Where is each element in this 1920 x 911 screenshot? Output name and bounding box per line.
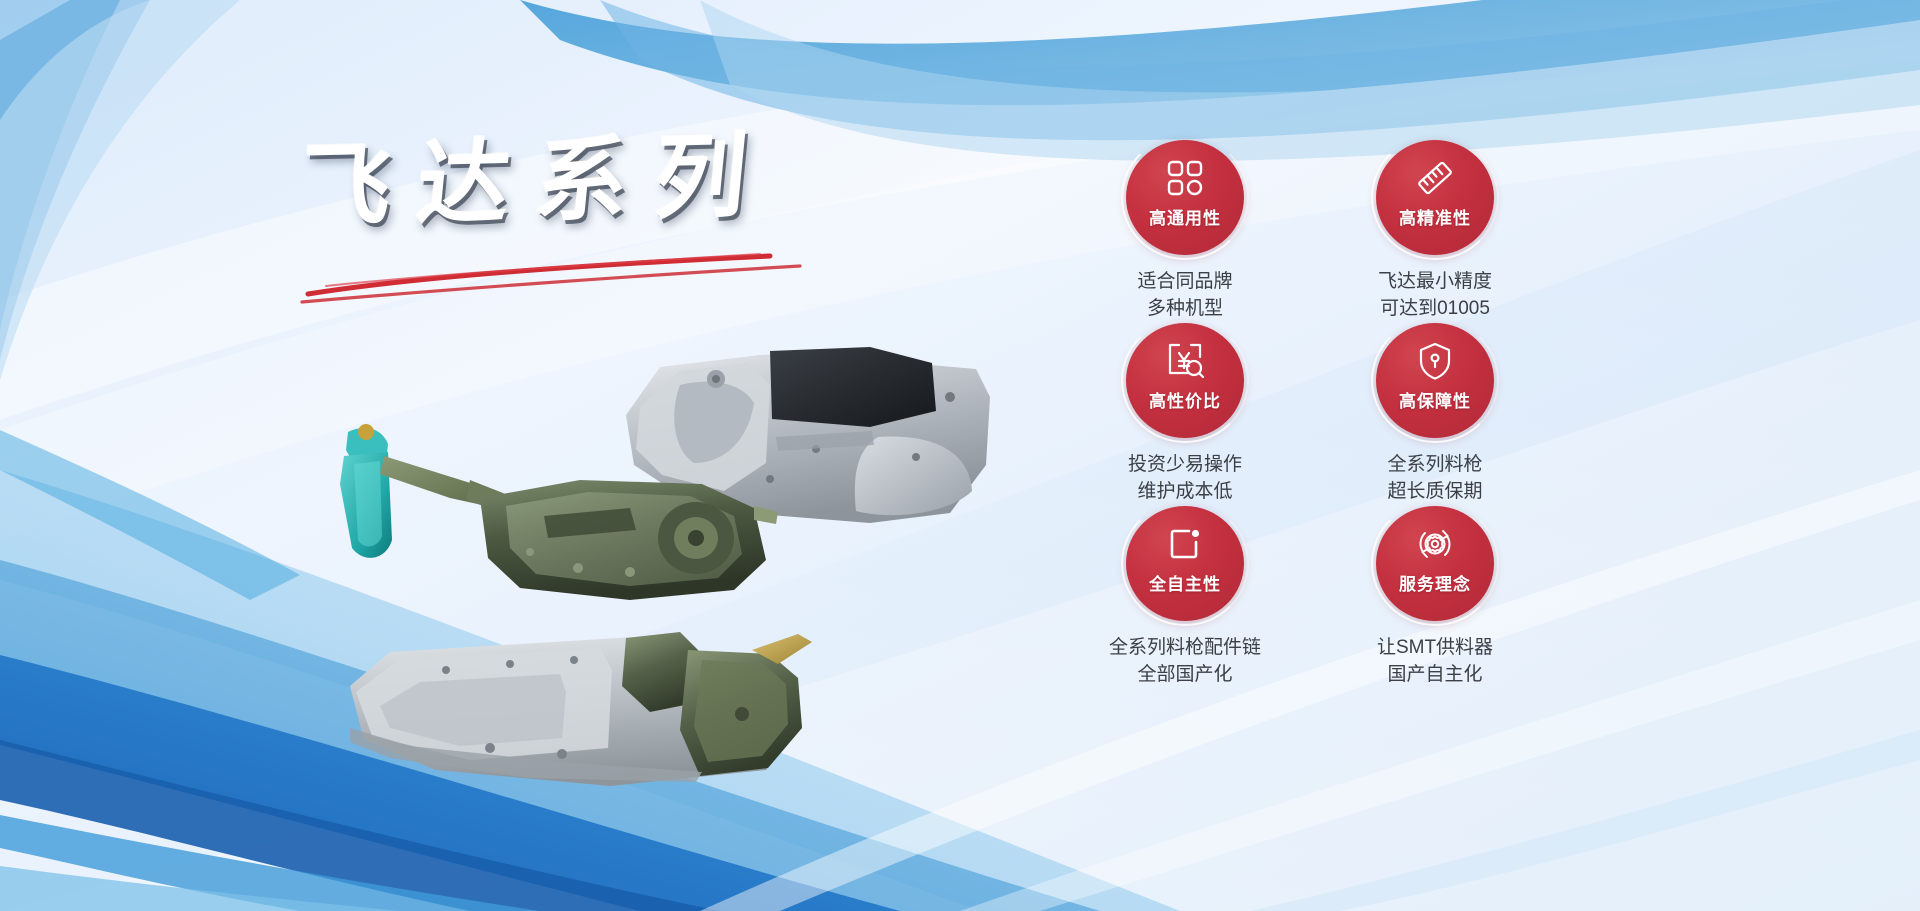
feature-caption-line1-4: 全系列料枪	[1387, 452, 1482, 479]
page-title: 飞达系列	[294, 123, 865, 238]
feature-caption-line1-1: 适合同品牌	[1137, 269, 1232, 296]
feature-caption-line1-2: 飞达最小精度	[1378, 269, 1492, 296]
yen-search-icon	[1165, 341, 1205, 381]
feature-caption-line2-4: 超长质保期	[1387, 479, 1482, 506]
feature-grid: 高通用性 适合同品牌 多种机型 高精准性	[1060, 140, 1360, 689]
feature-badge-1[interactable]: 高通用性	[1126, 140, 1244, 255]
product-banner: 飞达系列	[0, 0, 1920, 911]
feature-badge-3[interactable]: 高性价比	[1126, 323, 1244, 438]
feature-badge-label-6: 服务理念	[1399, 570, 1471, 595]
feature-caption-line2-2: 可达到01005	[1378, 296, 1492, 323]
four-squares-icon	[1165, 158, 1205, 198]
feature-badge-label-3: 高性价比	[1149, 387, 1221, 412]
feature-card-3[interactable]: 高性价比 投资少易操作 维护成本低	[1060, 323, 1310, 506]
feature-badge-2[interactable]: 高精准性	[1376, 140, 1494, 255]
feature-badge-label-5: 全自主性	[1149, 570, 1221, 595]
feature-caption-5: 全系列料枪配件链 全部国产化	[1109, 635, 1261, 689]
feature-caption-line2-3: 维护成本低	[1128, 479, 1242, 506]
feature-badge-5[interactable]: 全自主性	[1126, 506, 1244, 621]
feature-badge-4[interactable]: 高保障性	[1376, 323, 1494, 438]
feature-caption-line1-6: 让SMT供料器	[1377, 635, 1493, 662]
gear-refresh-icon	[1415, 524, 1455, 564]
feature-caption-4: 全系列料枪 超长质保期	[1387, 452, 1482, 506]
feature-card-2[interactable]: 高精准性 飞达最小精度 可达到01005	[1310, 140, 1560, 323]
title-underline-brush	[300, 250, 820, 310]
feature-caption-line1-3: 投资少易操作	[1128, 452, 1242, 479]
bracket-dot-icon	[1165, 524, 1205, 564]
feature-caption-line1-5: 全系列料枪配件链	[1109, 635, 1261, 662]
feature-card-6[interactable]: 服务理念 让SMT供料器 国产自主化	[1310, 506, 1560, 689]
feature-badge-label-1: 高通用性	[1149, 204, 1221, 229]
smt-feeder-photo-middle	[330, 420, 810, 620]
title-block: 飞达系列	[300, 130, 860, 231]
feature-badge-6[interactable]: 服务理念	[1376, 506, 1494, 621]
ruler-icon	[1415, 158, 1455, 198]
feature-caption-line2-5: 全部国产化	[1109, 662, 1261, 689]
smt-feeder-photo-bottom	[350, 630, 870, 820]
feature-card-1[interactable]: 高通用性 适合同品牌 多种机型	[1060, 140, 1310, 323]
feature-card-5[interactable]: 全自主性 全系列料枪配件链 全部国产化	[1060, 506, 1310, 689]
shield-lock-icon	[1415, 341, 1455, 381]
feature-caption-6: 让SMT供料器 国产自主化	[1377, 635, 1493, 689]
feature-caption-1: 适合同品牌 多种机型	[1137, 269, 1232, 323]
feature-badge-label-2: 高精准性	[1399, 204, 1471, 229]
feature-card-4[interactable]: 高保障性 全系列料枪 超长质保期	[1310, 323, 1560, 506]
feature-caption-2: 飞达最小精度 可达到01005	[1378, 269, 1492, 323]
feature-caption-line2-6: 国产自主化	[1377, 662, 1493, 689]
feature-caption-3: 投资少易操作 维护成本低	[1128, 452, 1242, 506]
feature-caption-line2-1: 多种机型	[1137, 296, 1232, 323]
feature-badge-label-4: 高保障性	[1399, 387, 1471, 412]
